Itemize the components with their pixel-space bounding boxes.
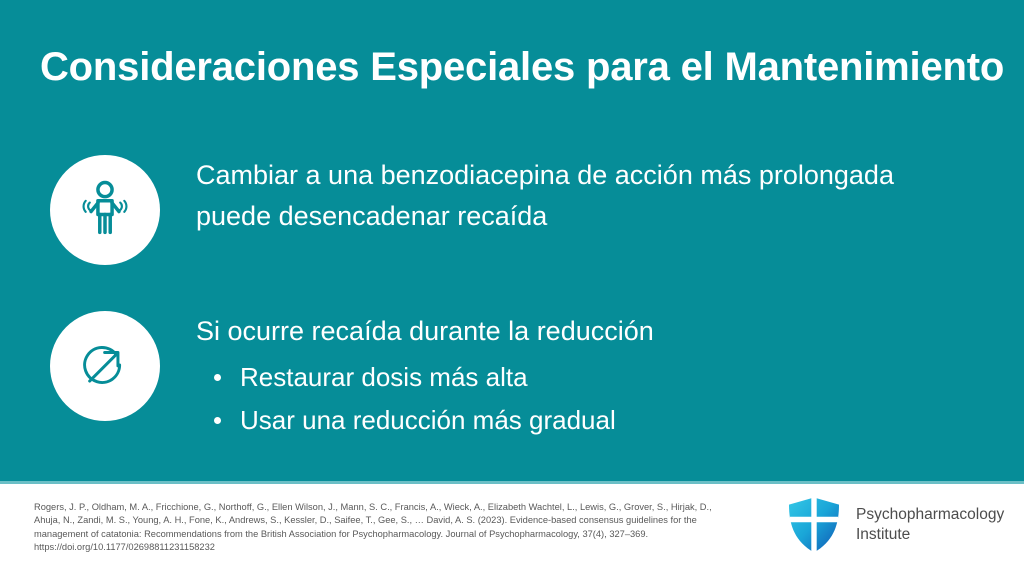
page-title: Consideraciones Especiales para el Mante…	[40, 42, 990, 92]
icon-badge-2	[50, 311, 160, 421]
bullet-row-1: Cambiar a una benzodiacepina de acción m…	[50, 155, 956, 265]
person-tremor-icon	[74, 177, 136, 244]
icon-badge-1	[50, 155, 160, 265]
shield-cross-logo-icon	[786, 496, 842, 554]
bullet-row-2-text: Si ocurre recaída durante la reducción R…	[196, 311, 654, 442]
citation-text: Rogers, J. P., Oldham, M. A., Fricchione…	[34, 501, 734, 555]
list-item-label: Restaurar dosis más alta	[240, 362, 528, 392]
bullet-row-1-text: Cambiar a una benzodiacepina de acción m…	[196, 155, 956, 237]
brand-line-1: Psychopharmacology	[856, 506, 1004, 523]
bullet-1-lead: Cambiar a una benzodiacepina de acción m…	[196, 155, 956, 237]
brand-logo-text: Psychopharmacology Institute	[856, 505, 1004, 545]
bullet-2-lead: Si ocurre recaída durante la reducción	[196, 311, 654, 352]
bullet-dot-icon	[214, 374, 221, 381]
brand-line-2: Institute	[856, 525, 1004, 545]
slide-root: Consideraciones Especiales para el Mante…	[0, 0, 1024, 576]
brand-logo: Psychopharmacology Institute	[786, 496, 1004, 554]
bullet-row-2: Si ocurre recaída durante la reducción R…	[50, 311, 654, 442]
bullet-2-sublist: Restaurar dosis más alta Usar una reducc…	[196, 356, 654, 442]
bullet-dot-icon	[214, 417, 221, 424]
list-item: Restaurar dosis más alta	[214, 356, 654, 399]
list-item: Usar una reducción más gradual	[214, 399, 654, 442]
list-item-label: Usar una reducción más gradual	[240, 405, 616, 435]
circle-arrow-up-right-icon	[77, 336, 133, 397]
